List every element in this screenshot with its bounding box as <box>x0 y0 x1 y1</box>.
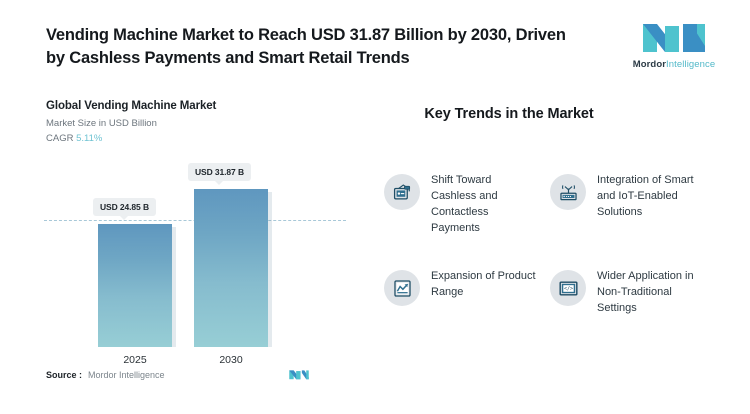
bar-shadow-2025 <box>172 227 176 347</box>
trend-icon-wrapper <box>550 174 586 210</box>
trend-label: Expansion of Product Range <box>431 268 539 300</box>
chart-panel: Global Vending Machine Market Market Siz… <box>46 100 346 396</box>
brand-logo: MordorIntelligence <box>626 20 722 76</box>
chart-subtitle: Market Size in USD Billion <box>46 118 346 129</box>
code-window-icon: </> <box>559 279 578 298</box>
wifi-router-icon <box>559 183 578 202</box>
source-label: Source : <box>46 370 82 380</box>
cagr-label: CAGR <box>46 133 73 144</box>
trend-label: Shift Toward Cashless and Contactless Pa… <box>431 172 539 237</box>
bar-value-label-2030: USD 31.87 B <box>188 163 251 181</box>
trend-item-cashless-payments[interactable]: Shift Toward Cashless and Contactless Pa… <box>384 172 550 268</box>
brand-wordmark: MordorIntelligence <box>633 59 716 70</box>
trend-icon-wrapper: </> <box>550 270 586 306</box>
trend-icon-wrapper <box>384 174 420 210</box>
x-axis-label-2030: 2030 <box>194 354 268 366</box>
bar-value-label-2025: USD 24.85 B <box>93 198 156 216</box>
trend-label: Integration of Smart and IoT-Enabled Sol… <box>597 172 703 220</box>
chart-title: Global Vending Machine Market <box>46 100 346 112</box>
bar-chart-plot: USD 24.85 B USD 31.87 B 2025 2030 <box>46 162 346 347</box>
trend-item-non-traditional-settings[interactable]: </> Wider Application in Non-Traditional… <box>550 268 720 354</box>
mordor-logo-mark-small-icon <box>288 368 310 381</box>
chart-growth-icon <box>393 279 412 298</box>
bar-2025[interactable] <box>98 224 172 347</box>
trend-label: Wider Application in Non-Traditional Set… <box>597 268 703 316</box>
brand-name-light: Intelligence <box>666 59 715 70</box>
brand-name-bold: Mordor <box>633 59 666 70</box>
trend-item-smart-iot[interactable]: Integration of Smart and IoT-Enabled Sol… <box>550 172 720 268</box>
source-value: Mordor Intelligence <box>88 370 165 380</box>
cagr-value: 5.11% <box>76 133 102 144</box>
bar-shadow-2030 <box>268 192 272 347</box>
x-axis-label-2025: 2025 <box>98 354 172 366</box>
key-trends-panel: Key Trends in the Market Shift Toward Ca… <box>384 100 720 390</box>
svg-text:</>: </> <box>563 285 572 291</box>
mordor-logo-mark-icon <box>639 20 709 54</box>
infographic-page: Vending Machine Market to Reach USD 31.8… <box>0 0 750 414</box>
bar-2030[interactable] <box>194 189 268 347</box>
wallet-card-icon <box>393 183 412 202</box>
key-trends-title: Key Trends in the Market <box>384 106 634 122</box>
page-title: Vending Machine Market to Reach USD 31.8… <box>46 24 586 71</box>
chart-cagr: CAGR 5.11% <box>46 133 346 144</box>
trend-icon-wrapper <box>384 270 420 306</box>
trend-item-product-range[interactable]: Expansion of Product Range <box>384 268 550 354</box>
key-trends-grid: Shift Toward Cashless and Contactless Pa… <box>384 172 720 354</box>
chart-source: Source : Mordor Intelligence <box>46 368 346 381</box>
